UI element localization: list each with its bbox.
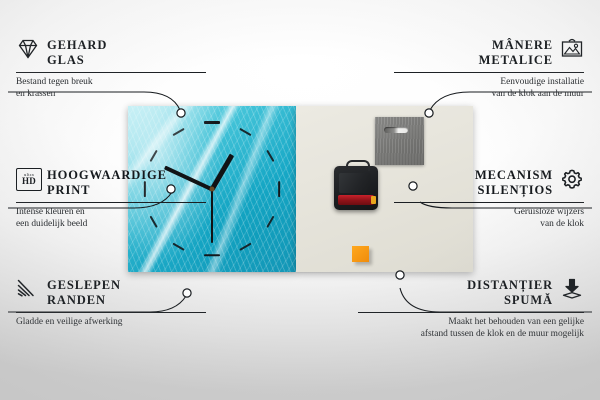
clock-tick [240, 128, 252, 136]
callout-desc-line2: en krassen [16, 89, 55, 99]
callout-desc-line1: Eenvoudige installatie [500, 77, 584, 87]
callout-title-line2: METALICE [479, 53, 553, 67]
clock-tick [278, 181, 280, 197]
callout-gehard-glas[interactable]: GEHARD GLAS Bestand tegen breuk en krass… [16, 38, 206, 100]
callout-title-line1: DISTANȚIER [467, 278, 553, 292]
callout-mecanism-silentios[interactable]: MECANISM SILENȚIOS Geruisloze wijzers va… [394, 168, 584, 230]
callout-rule [16, 312, 206, 313]
clock-tick [172, 243, 184, 251]
metal-hanger-plate [375, 117, 424, 165]
clock-tick [172, 128, 184, 136]
callout-desc-line1: Gladde en veilige afwerking [16, 317, 122, 327]
clock-tick [204, 121, 220, 123]
clock-hour-hand [210, 153, 234, 190]
callout-desc-line2: een duidelijk beeld [16, 219, 87, 229]
callout-title-line1: GEHARD [47, 38, 107, 52]
mechanism-hang-loop [346, 160, 370, 171]
callout-rule [394, 72, 584, 73]
callout-title-line2: RANDEN [47, 293, 106, 307]
clock-tick [266, 216, 274, 228]
callout-rule [394, 202, 584, 203]
callout-title-line1: MECANISM [475, 168, 553, 182]
callout-rule [16, 72, 206, 73]
callout-rule [358, 312, 584, 313]
ultra-hd-icon-main-text: HD [22, 177, 36, 186]
callout-title-line1: GESLEPEN [47, 278, 121, 292]
callout-title-line2: PRINT [47, 183, 90, 197]
clock-center-hub [210, 187, 215, 192]
callout-desc-line2: van de klok [540, 219, 584, 229]
clock-tick [204, 254, 220, 256]
down-arrow-layer-icon [560, 278, 584, 300]
callout-manere-metalice[interactable]: MÂNERE METALICE Eenvoudige installatie v… [394, 38, 584, 100]
callout-rule [16, 202, 206, 203]
callout-title-line2: SPUMĂ [504, 293, 553, 307]
clock-mechanism-box [334, 166, 378, 210]
clock-tick [266, 150, 274, 162]
callout-desc-line2: afstand tussen de klok en de muur mogeli… [421, 329, 584, 339]
callout-desc-line1: Intense kleuren en [16, 207, 85, 217]
callout-title-line1: HOOGWAARDIGE [47, 168, 167, 182]
callout-desc-line1: Maakt het behouden van een gelijke [448, 317, 584, 327]
ultra-hd-icon: ultra HD [16, 168, 40, 190]
picture-frame-hook-icon [560, 38, 584, 60]
callout-desc-line2: van de klok aan de muur [492, 89, 584, 99]
battery [338, 195, 374, 205]
beveled-edges-icon [16, 278, 40, 300]
clock-second-hand [211, 189, 213, 243]
clock-tick [240, 243, 252, 251]
hanger-keyhole-slot [384, 127, 408, 133]
foam-spacer [352, 246, 369, 262]
callout-geslepen-randen[interactable]: GESLEPEN RANDEN Gladde en veilige afwerk… [16, 278, 206, 329]
callout-desc-line1: Geruisloze wijzers [514, 207, 584, 217]
diamond-icon [16, 38, 40, 60]
callout-hoogwaardige-print[interactable]: ultra HD HOOGWAARDIGE PRINT Intense kleu… [16, 168, 206, 230]
callout-distantier-spuma[interactable]: DISTANȚIER SPUMĂ Maakt het behouden van … [358, 278, 584, 340]
callout-desc-line1: Bestand tegen breuk [16, 77, 93, 87]
callout-title-line2: SILENȚIOS [478, 183, 554, 197]
callout-title-line2: GLAS [47, 53, 85, 67]
clock-tick [150, 150, 158, 162]
gear-icon [560, 168, 584, 190]
mechanism-body [339, 173, 371, 193]
callout-title-line1: MÂNERE [492, 38, 553, 52]
infographic-canvas: GEHARD GLAS Bestand tegen breuk en krass… [0, 0, 600, 400]
